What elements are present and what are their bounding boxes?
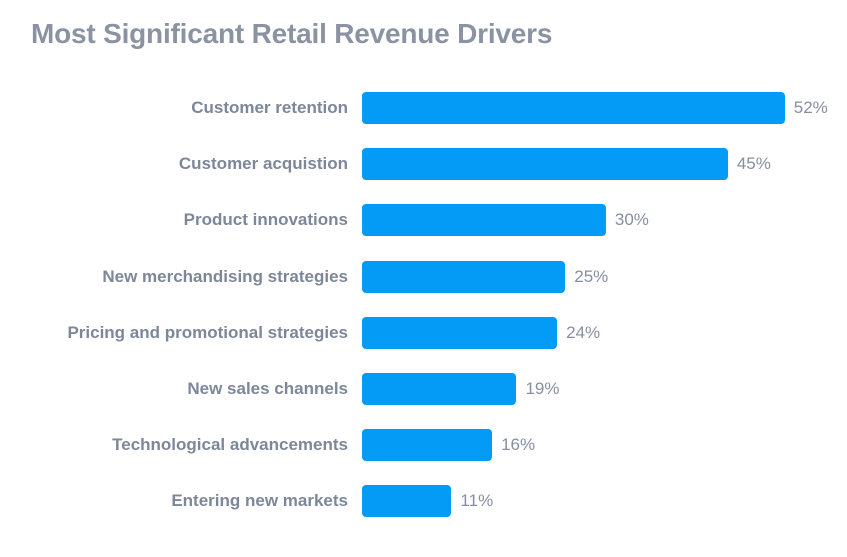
bar-fill bbox=[362, 485, 451, 517]
bar-row: Entering new markets11% bbox=[0, 485, 847, 517]
bar-row: Product innovations30% bbox=[0, 204, 847, 236]
bar-value-label: 19% bbox=[525, 373, 559, 405]
bar bbox=[362, 429, 492, 461]
bar-value-label: 45% bbox=[737, 148, 771, 180]
bar-row: New sales channels19% bbox=[0, 373, 847, 405]
bar-row: Customer acquistion45% bbox=[0, 148, 847, 180]
category-label: Customer retention bbox=[191, 92, 348, 124]
bar-row: New merchandising strategies25% bbox=[0, 261, 847, 293]
bar-chart: Most Significant Retail Revenue Drivers … bbox=[0, 0, 847, 557]
category-label: New merchandising strategies bbox=[102, 261, 348, 293]
bar bbox=[362, 261, 565, 293]
bar-value-label: 24% bbox=[566, 317, 600, 349]
bar-row: Customer retention52% bbox=[0, 92, 847, 124]
category-label: Customer acquistion bbox=[179, 148, 348, 180]
category-label: New sales channels bbox=[187, 373, 348, 405]
category-label: Pricing and promotional strategies bbox=[67, 317, 348, 349]
bar-fill bbox=[362, 92, 785, 124]
bar-fill bbox=[362, 204, 606, 236]
bar-value-label: 25% bbox=[574, 261, 608, 293]
bar-row: Pricing and promotional strategies24% bbox=[0, 317, 847, 349]
bar bbox=[362, 373, 516, 405]
plot-area: Customer retention52%Customer acquistion… bbox=[0, 92, 847, 552]
category-label: Product innovations bbox=[184, 204, 348, 236]
bar-value-label: 16% bbox=[501, 429, 535, 461]
bar-fill bbox=[362, 373, 516, 405]
category-label: Technological advancements bbox=[112, 429, 348, 461]
bar-fill bbox=[362, 261, 565, 293]
bar-value-label: 30% bbox=[615, 204, 649, 236]
bar bbox=[362, 204, 606, 236]
bar bbox=[362, 485, 451, 517]
bar-fill bbox=[362, 148, 728, 180]
bar-value-label: 52% bbox=[794, 92, 828, 124]
chart-title: Most Significant Retail Revenue Drivers bbox=[31, 16, 552, 52]
bar-value-label: 11% bbox=[460, 485, 493, 517]
category-label: Entering new markets bbox=[171, 485, 348, 517]
bar-row: Technological advancements16% bbox=[0, 429, 847, 461]
bar-fill bbox=[362, 317, 557, 349]
bar bbox=[362, 92, 785, 124]
bar-fill bbox=[362, 429, 492, 461]
bar bbox=[362, 317, 557, 349]
bar bbox=[362, 148, 728, 180]
